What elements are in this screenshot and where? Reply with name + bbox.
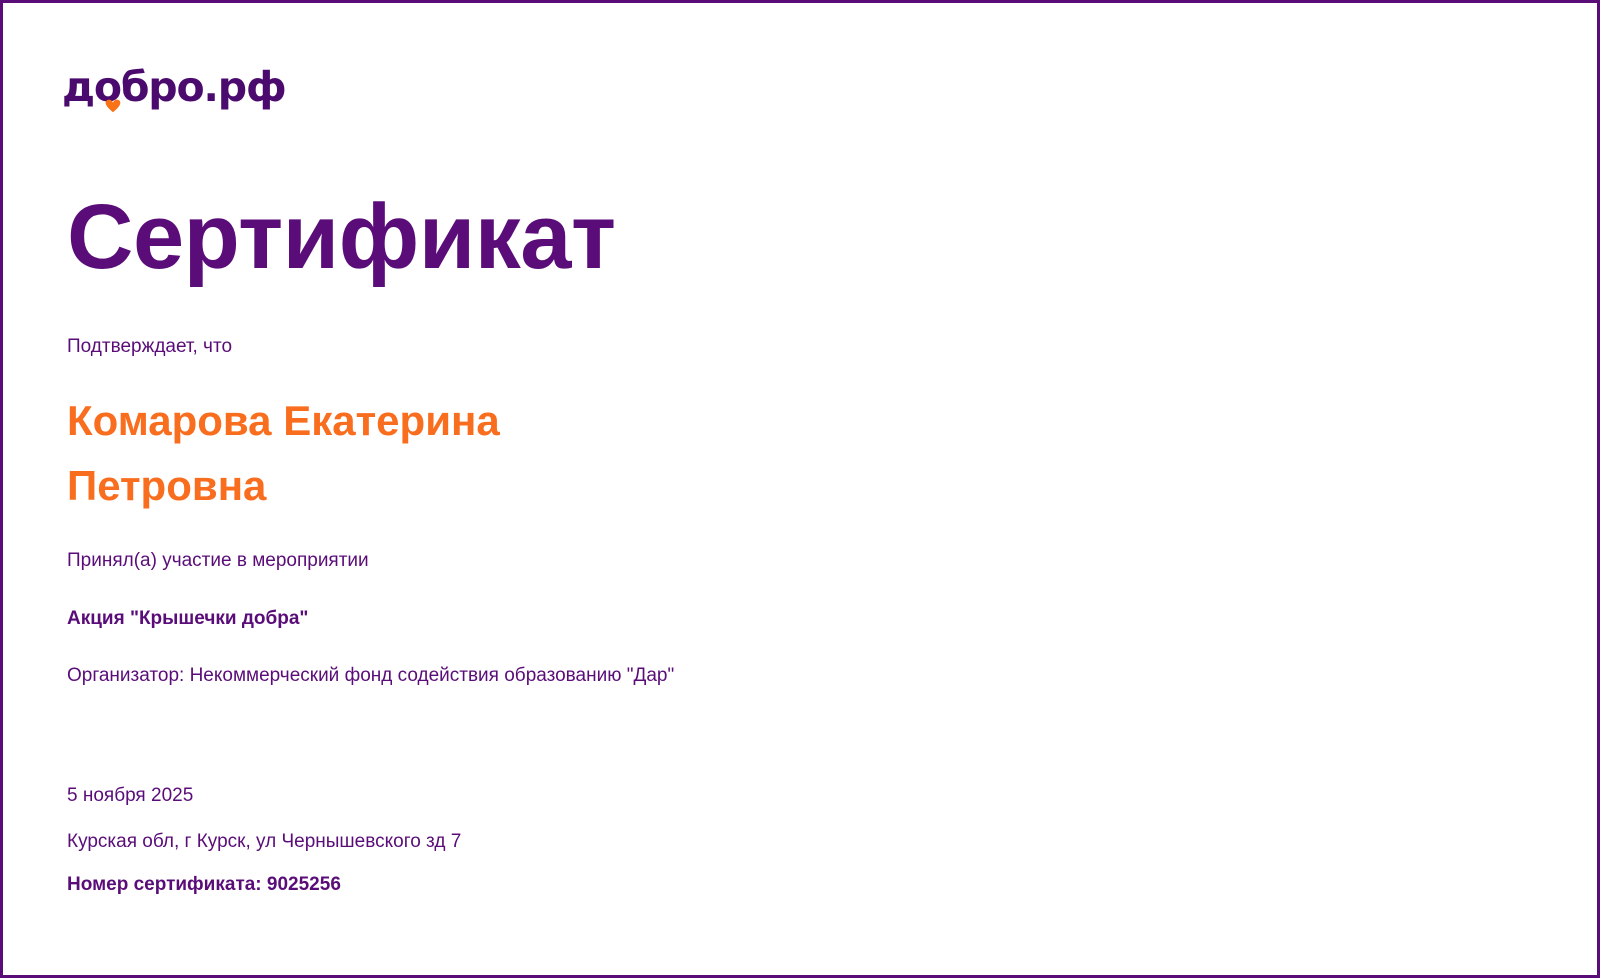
certificate-title: Сертификат	[67, 189, 1467, 286]
organizer-line: Организатор: Некоммерческий фонд содейст…	[67, 663, 1467, 689]
issue-place: Курская обл, г Курск, ул Чернышевского з…	[67, 829, 1467, 855]
recipient-name: Комарова Екатерина Петровна	[67, 388, 647, 518]
logo-wordmark-label: добро.рф	[62, 65, 285, 111]
certificate-body: Сертификат Подтверждает, что Комарова Ек…	[67, 189, 1467, 688]
dobro-rf-logo[interactable]: добро.рф	[62, 65, 302, 121]
certificate-page: добро.рф Сертификат Подтверждает, что Ко…	[0, 0, 1600, 978]
certificate-footer: 5 ноября 2025 Курская обл, г Курск, ул Ч…	[67, 783, 1467, 898]
confirms-label: Подтверждает, что	[67, 334, 1467, 360]
issue-date: 5 ноября 2025	[67, 783, 1467, 809]
participation-label: Принял(а) участие в мероприятии	[67, 548, 1467, 574]
event-title: Акция "Крышечки добра"	[67, 606, 1467, 632]
certificate-number: Номер сертификата: 9025256	[67, 872, 1467, 898]
